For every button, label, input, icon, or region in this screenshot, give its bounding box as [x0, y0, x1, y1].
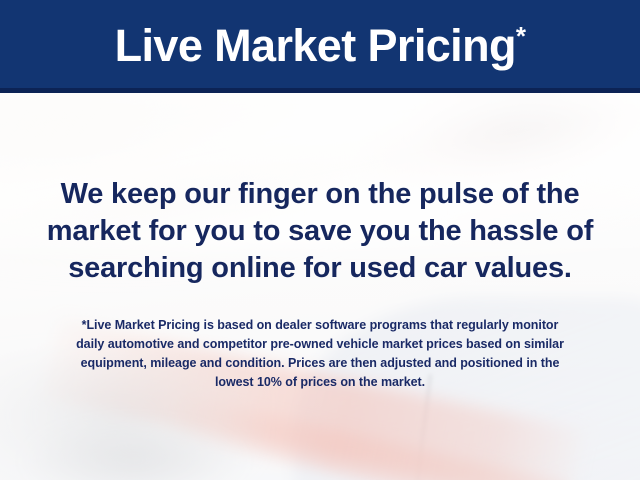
page-title-text: Live Market Pricing [115, 20, 516, 71]
disclaimer-line-3: equipment, mileage and condition. Prices… [0, 354, 640, 373]
title-asterisk: * [516, 21, 526, 51]
disclaimer-text: *Live Market Pricing is based on dealer … [0, 316, 640, 392]
disclaimer-line-4: lowest 10% of prices on the market. [0, 373, 640, 392]
page-title: Live Market Pricing* [115, 23, 526, 68]
live-market-pricing-banner: Live Market Pricing* We keep our finger … [0, 0, 640, 480]
headline-line-3: searching online for used car values. [0, 250, 640, 287]
headline-text: We keep our finger on the pulse of the m… [0, 176, 640, 287]
banner-bottom-rule [0, 88, 640, 93]
disclaimer-line-2: daily automotive and competitor pre-owne… [0, 335, 640, 354]
headline-line-2: market for you to save you the hassle of [0, 213, 640, 250]
header-banner: Live Market Pricing* [0, 0, 640, 93]
headline-line-1: We keep our finger on the pulse of the [0, 176, 640, 213]
disclaimer-line-1: *Live Market Pricing is based on dealer … [0, 316, 640, 335]
